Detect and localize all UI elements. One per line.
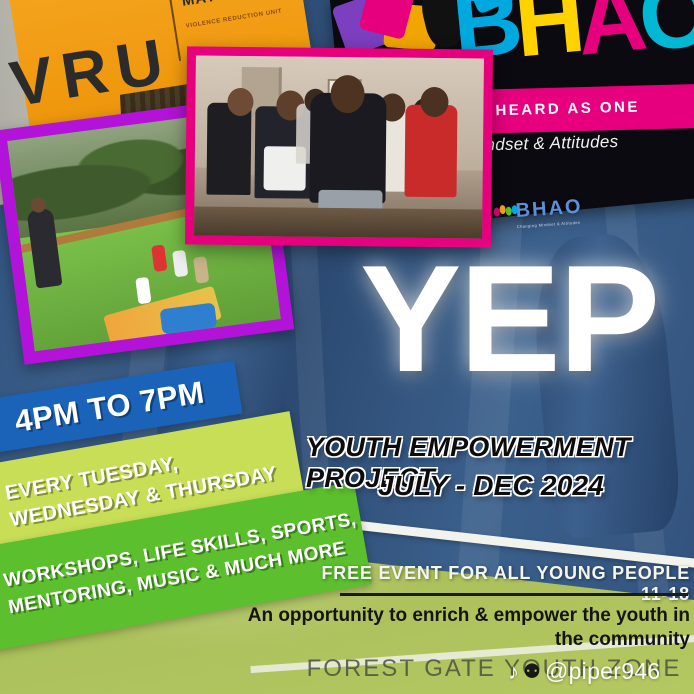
person-figure <box>405 104 458 197</box>
music-note-icon: ♪ <box>508 661 519 683</box>
poster-canvas: VRU MAYOR VIOLENCE REDUCTION UNIT B H A … <box>0 0 694 694</box>
person-icon: ⚉ <box>523 662 541 682</box>
vru-divider <box>169 0 181 61</box>
tiktok-watermark: ♪ ⚉ @piper946 <box>508 658 661 685</box>
person-figure <box>206 102 251 194</box>
person-head <box>420 87 448 117</box>
photo-content <box>194 55 484 238</box>
tiktok-handle: @piper946 <box>545 658 661 685</box>
bhao-letter-o: O <box>635 0 694 67</box>
page-title: YEP <box>360 250 658 390</box>
vru-unit-label: VIOLENCE REDUCTION UNIT <box>185 3 314 29</box>
free-event-label: FREE EVENT FOR ALL YOUNG PEOPLE 11-18 <box>300 563 690 605</box>
logo-dots-icon <box>493 204 518 220</box>
divider <box>340 593 688 596</box>
poster-dates: JULY - DEC 2024 <box>306 470 676 502</box>
poster-tagline: An opportunity to enrich & empower the y… <box>232 604 690 652</box>
photo-group-indoor <box>185 46 493 247</box>
